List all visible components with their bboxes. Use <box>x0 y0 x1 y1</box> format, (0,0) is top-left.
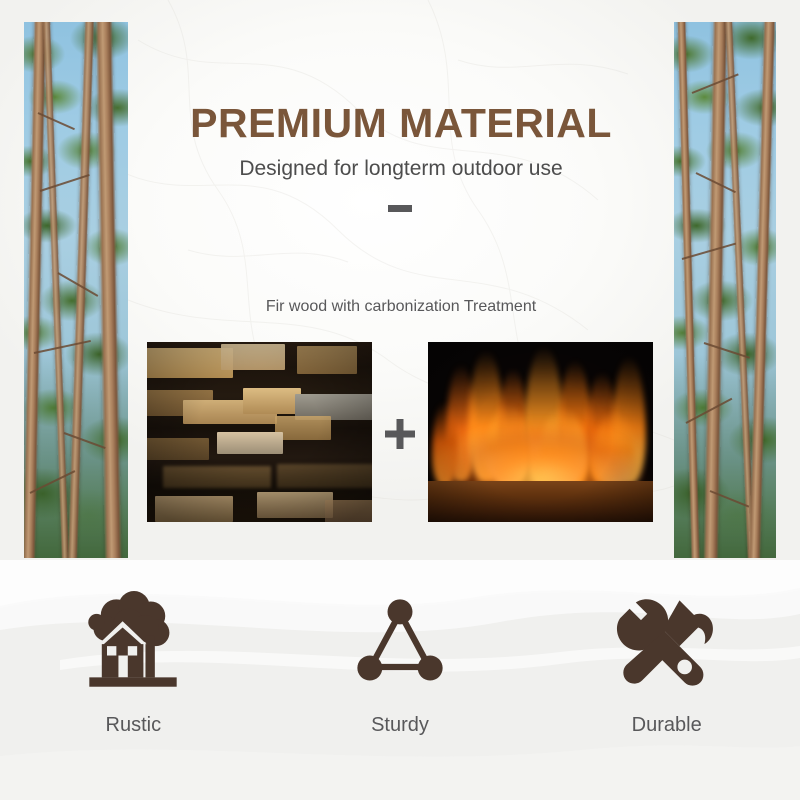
tree-house-icon <box>79 588 187 696</box>
fir-wood-photo <box>147 342 372 522</box>
photo-vignette <box>428 342 653 522</box>
plus-icon <box>385 419 415 449</box>
feature-item-durable: Durable <box>533 560 800 800</box>
feature-list: Rustic Sturdy <box>0 560 800 800</box>
carbonization-fire-photo <box>428 342 653 522</box>
product-infographic: PREMIUM MATERIAL Designed for longterm o… <box>0 0 800 800</box>
forest-photo-right <box>674 22 776 558</box>
divider-dash <box>388 205 412 212</box>
page-subtitle: Designed for longterm outdoor use <box>128 157 674 181</box>
feature-item-sturdy: Sturdy <box>267 560 534 800</box>
page-title: PREMIUM MATERIAL <box>128 100 674 147</box>
forest-photo-left <box>24 22 128 558</box>
triangle-nodes-icon <box>346 588 454 696</box>
feature-label: Sturdy <box>371 714 429 737</box>
wrench-hammer-icon <box>613 588 721 696</box>
feature-label: Rustic <box>106 714 162 737</box>
premium-material-section: PREMIUM MATERIAL Designed for longterm o… <box>0 0 800 560</box>
feature-label: Durable <box>632 714 702 737</box>
feature-item-rustic: Rustic <box>0 560 267 800</box>
photo-vignette <box>147 342 372 522</box>
features-section: Rustic Sturdy <box>0 560 800 800</box>
material-caption: Fir wood with carbonization Treatment <box>128 298 674 316</box>
